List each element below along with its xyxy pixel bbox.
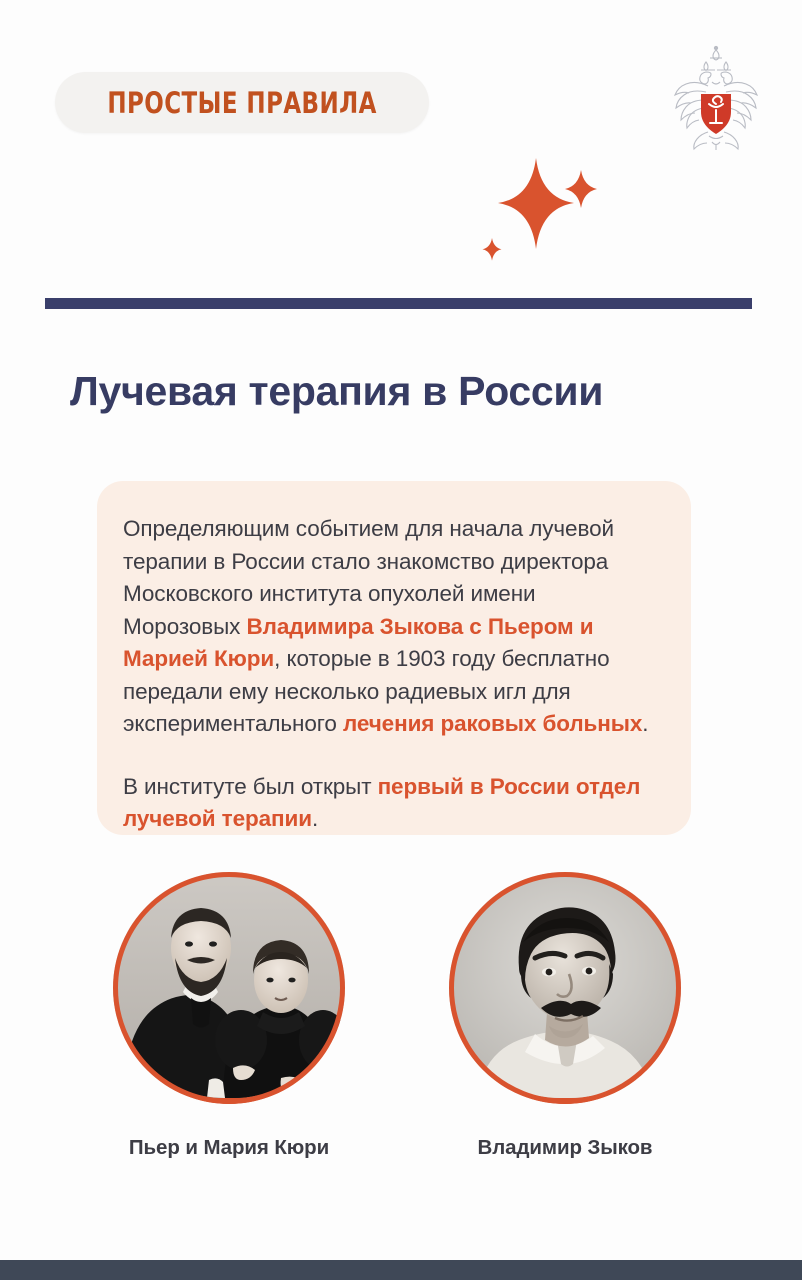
category-badge: ПРОСТЫЕ ПРАВИЛА <box>55 72 429 133</box>
portrait-curie-photo <box>113 872 345 1098</box>
paragraph-2: В институте был открыт первый в России о… <box>123 771 651 836</box>
category-badge-label: ПРОСТЫЕ ПРАВИЛА <box>107 86 376 120</box>
portrait-zykov-caption: Владимир Зыков <box>449 1136 681 1160</box>
sparkle-stars-icon <box>468 150 618 275</box>
portrait-zykov-photo <box>449 872 681 1098</box>
portrait-curie: Пьер и Мария Кюри <box>113 872 345 1160</box>
russian-ministry-of-health-emblem-icon <box>668 44 764 152</box>
portrait-zykov-frame <box>449 872 681 1104</box>
paragraph-1: Определяющим событием для начала лучевой… <box>123 513 651 741</box>
content-card-body: Определяющим событием для начала лучевой… <box>123 513 651 836</box>
footer-bar <box>0 1260 802 1280</box>
page-title: Лучевая терапия в России <box>70 368 603 415</box>
portrait-curie-caption: Пьер и Мария Кюри <box>113 1136 345 1160</box>
portrait-curie-frame <box>113 872 345 1104</box>
header: ПРОСТЫЕ ПРАВИЛА <box>0 0 802 290</box>
body-text: . <box>312 806 318 831</box>
portrait-gallery: Пьер и Мария Кюри <box>0 872 802 1172</box>
body-text: В институте был открыт <box>123 774 378 799</box>
slide-root: ПРОСТЫЕ ПРАВИЛА <box>0 0 802 1280</box>
header-divider <box>45 298 752 309</box>
content-card: Определяющим событием для начала лучевой… <box>97 481 691 835</box>
body-text: . <box>642 711 648 736</box>
portrait-zykov: Владимир Зыков <box>449 872 681 1160</box>
highlighted-text: лечения раковых больных <box>343 711 642 736</box>
